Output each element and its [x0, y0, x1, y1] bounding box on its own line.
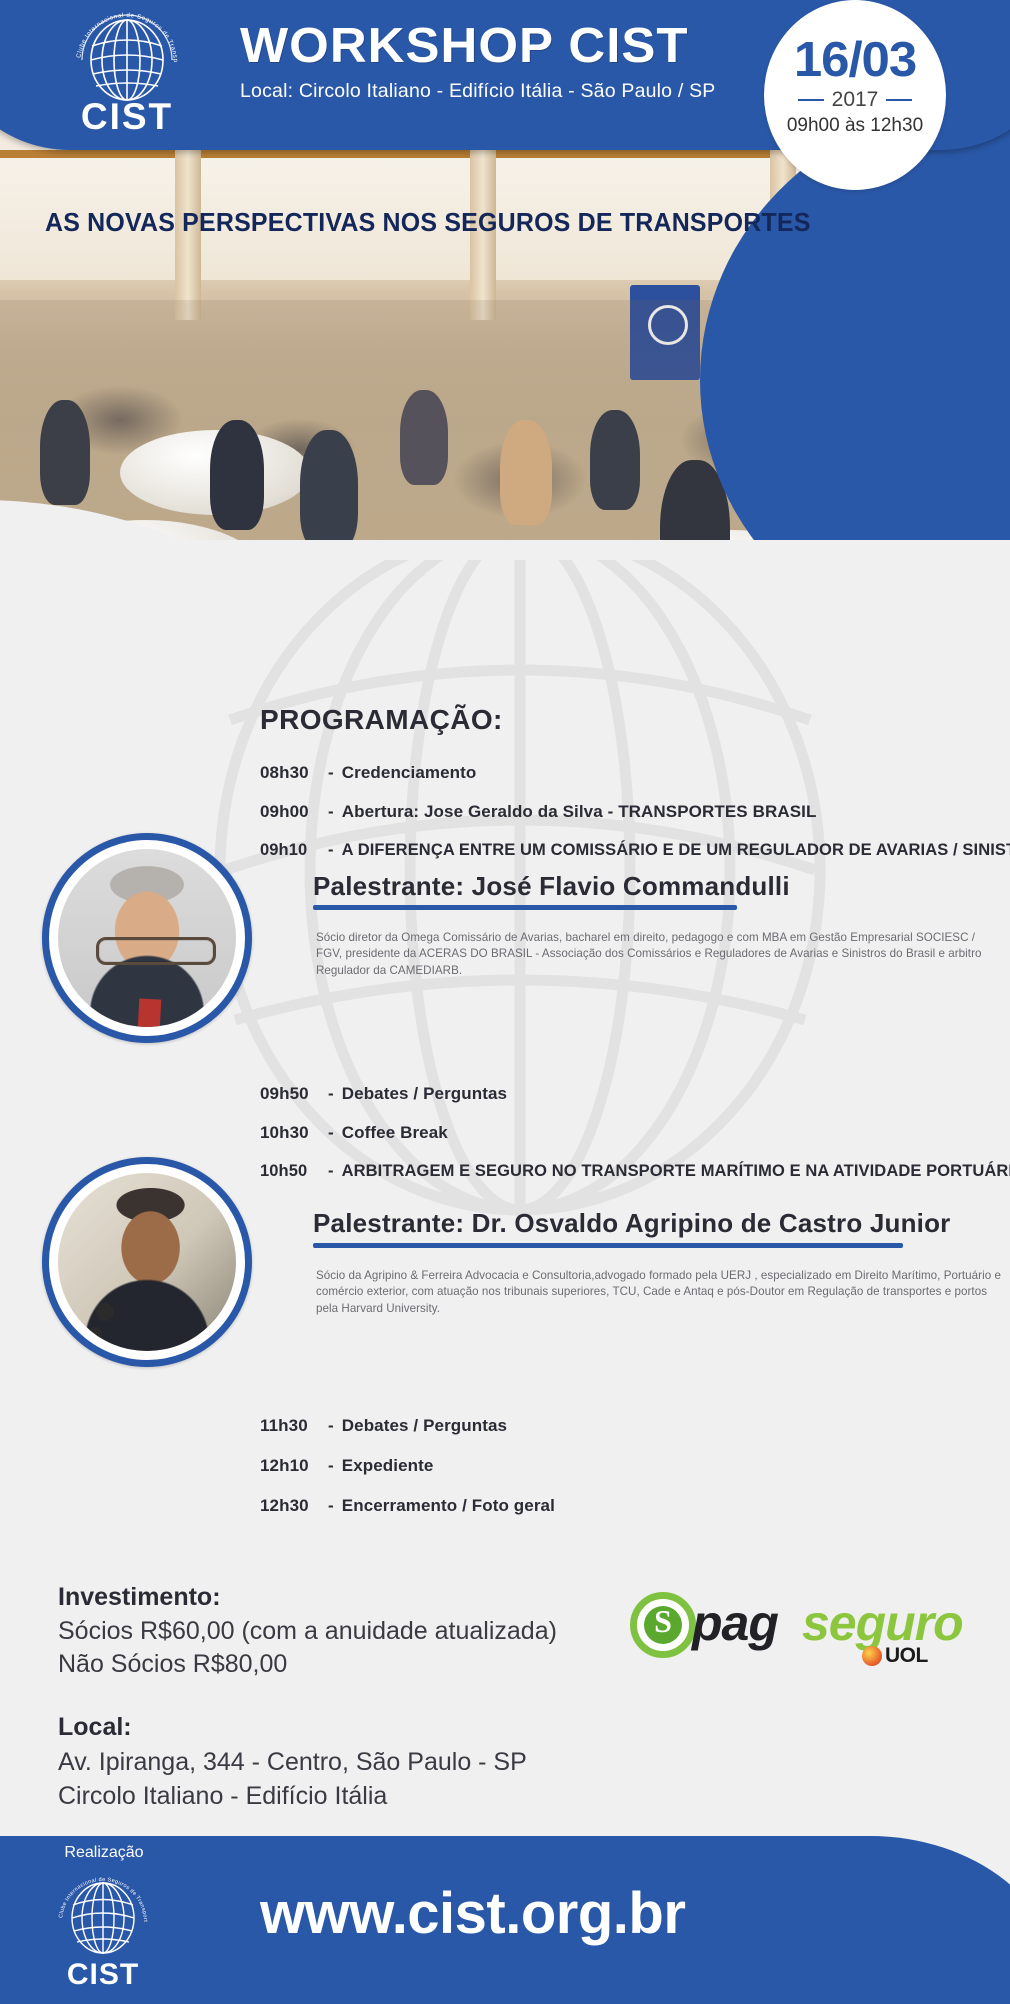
- cist-logo: Clube Internacional de Seguros de Transp…: [62, 8, 192, 136]
- schedule-time: 10h50: [260, 1162, 320, 1181]
- schedule-time: 10h30: [260, 1123, 320, 1143]
- audience-member: [500, 420, 552, 525]
- schedule-time: 12h10: [260, 1456, 320, 1476]
- schedule-dash: -: [320, 763, 342, 783]
- schedule-time: 11h30: [260, 1416, 320, 1436]
- speaker-2-name: Palestrante: Dr. Osvaldo Agripino de Cas…: [313, 1208, 951, 1239]
- theme-banner-text: AS NOVAS PERSPECTIVAS NOS SEGUROS DE TRA…: [45, 207, 811, 238]
- avatar: [58, 1173, 236, 1351]
- venue-line-2: Circolo Italiano - Edifício Itália: [58, 1782, 387, 1811]
- venue-heading: Local:: [58, 1713, 132, 1742]
- website-link[interactable]: www.cist.org.br: [260, 1880, 685, 1947]
- cist-wordmark-footer: CIST: [48, 1958, 158, 1992]
- schedule-label: Debates / Perguntas: [342, 1084, 507, 1103]
- cist-logo-footer: Clube Internacional de Seguros de Transp…: [48, 1870, 158, 1988]
- schedule-label: Expediente: [342, 1456, 434, 1475]
- schedule-dash: -: [320, 1456, 342, 1476]
- avatar: [58, 849, 236, 1027]
- investment-heading: Investimento:: [58, 1583, 221, 1612]
- schedule-time: 12h30: [260, 1496, 320, 1516]
- schedule-item: 10h30-Coffee Break: [260, 1123, 448, 1143]
- uol-badge: UOL: [862, 1644, 928, 1668]
- poster-footer: Realização Clube Internacional de Seguro…: [0, 1836, 1010, 2004]
- speaker-1-name: Palestrante: José Flavio Commandulli: [313, 871, 790, 902]
- event-poster: Clube Internacional de Seguros de Transp…: [0, 0, 1010, 2004]
- program-heading: PROGRAMAÇÃO:: [260, 704, 503, 736]
- realizacao-label: Realização: [44, 1844, 164, 1862]
- schedule-label: Abertura: Jose Geraldo da Silva - TRANSP…: [342, 802, 817, 821]
- venue-line-1: Av. Ipiranga, 344 - Centro, São Paulo - …: [58, 1748, 527, 1777]
- date-year-row: 2017: [764, 88, 946, 112]
- page-title: WORKSHOP CIST: [240, 18, 689, 74]
- cist-wordmark: CIST: [62, 96, 192, 138]
- coin-s-glyph: S: [644, 1603, 682, 1640]
- rule-right: [886, 99, 912, 101]
- speaker-photo-1: [42, 833, 252, 1043]
- schedule-item: 12h30-Encerramento / Foto geral: [260, 1496, 555, 1516]
- schedule-dash: -: [320, 1123, 342, 1143]
- schedule-time: 09h50: [260, 1084, 320, 1104]
- speaker-2-portrait: [58, 1173, 236, 1351]
- uol-dot-icon: [862, 1646, 882, 1666]
- microphone: [96, 1303, 114, 1321]
- schedule-label: ARBITRAGEM E SEGURO NO TRANSPORTE MARÍTI…: [342, 1162, 1010, 1180]
- date-badge: 16/03 2017 09h00 às 12h30: [764, 0, 946, 190]
- schedule-item: 08h30-Credenciamento: [260, 763, 476, 783]
- coin-inner: S: [644, 1606, 682, 1644]
- schedule-time: 09h10: [260, 841, 320, 860]
- schedule-item: 09h00-Abertura: Jose Geraldo da Silva - …: [260, 802, 816, 822]
- schedule-item: 09h50-Debates / Perguntas: [260, 1084, 507, 1104]
- investment-line-1: Sócios R$60,00 (com a anuidade atualizad…: [58, 1617, 557, 1646]
- poster-header: Clube Internacional de Seguros de Transp…: [0, 0, 1010, 150]
- audience-member: [300, 430, 358, 550]
- schedule-dash: -: [320, 1162, 342, 1181]
- rule-left: [798, 99, 824, 101]
- schedule-dash: -: [320, 841, 342, 860]
- schedule-item: 12h10-Expediente: [260, 1456, 433, 1476]
- date-day-month: 16/03: [760, 32, 949, 88]
- schedule-dash: -: [320, 1084, 342, 1104]
- speaker-2-bio: Sócio da Agripino & Ferreira Advocacia e…: [316, 1268, 1006, 1317]
- schedule-item: 10h50-ARBITRAGEM E SEGURO NO TRANSPORTE …: [260, 1162, 1010, 1181]
- audience-member: [400, 390, 448, 485]
- header-subtitle: Local: Circolo Italiano - Edifício Itáli…: [240, 80, 716, 103]
- schedule-item: 11h30-Debates / Perguntas: [260, 1416, 507, 1436]
- date-year: 2017: [832, 88, 879, 112]
- schedule-label: Debates / Perguntas: [342, 1416, 507, 1435]
- schedule-time: 08h30: [260, 763, 320, 783]
- schedule-label: Encerramento / Foto geral: [342, 1496, 555, 1515]
- pagseguro-logo[interactable]: S pag seguro UOL: [630, 1588, 950, 1674]
- audience-member: [40, 400, 90, 505]
- uol-label: UOL: [885, 1644, 928, 1668]
- date-time-range: 09h00 às 12h30: [764, 115, 946, 137]
- schedule-item: 09h10-A DIFERENÇA ENTRE UM COMISSÁRIO E …: [260, 841, 1010, 860]
- schedule-time: 09h00: [260, 802, 320, 822]
- speaker-1-bio: Sócio diretor da Omega Comissário de Ava…: [316, 930, 994, 979]
- audience-member: [590, 410, 640, 510]
- schedule-dash: -: [320, 802, 342, 822]
- schedule-label: A DIFERENÇA ENTRE UM COMISSÁRIO E DE UM …: [342, 841, 1010, 859]
- schedule-dash: -: [320, 1416, 342, 1436]
- speaker-2-underline: [313, 1243, 903, 1248]
- necktie: [137, 998, 162, 1027]
- schedule-label: Coffee Break: [342, 1123, 448, 1142]
- svg-text:Clube Internacional de Seguros: Clube Internacional de Seguros de Transp…: [48, 1870, 148, 1922]
- speaker-1-underline: [313, 905, 737, 910]
- theme-banner: AS NOVAS PERSPECTIVAS NOS SEGUROS DE TRA…: [0, 205, 790, 249]
- schedule-dash: -: [320, 1496, 342, 1516]
- audience-member: [210, 420, 264, 530]
- schedule-label: Credenciamento: [342, 763, 477, 782]
- investment-line-2: Não Sócios R$80,00: [58, 1650, 287, 1679]
- pagseguro-word-pag: pag: [692, 1594, 778, 1652]
- pagseguro-coin-icon: S: [630, 1592, 696, 1658]
- speaker-photo-2: [42, 1157, 252, 1367]
